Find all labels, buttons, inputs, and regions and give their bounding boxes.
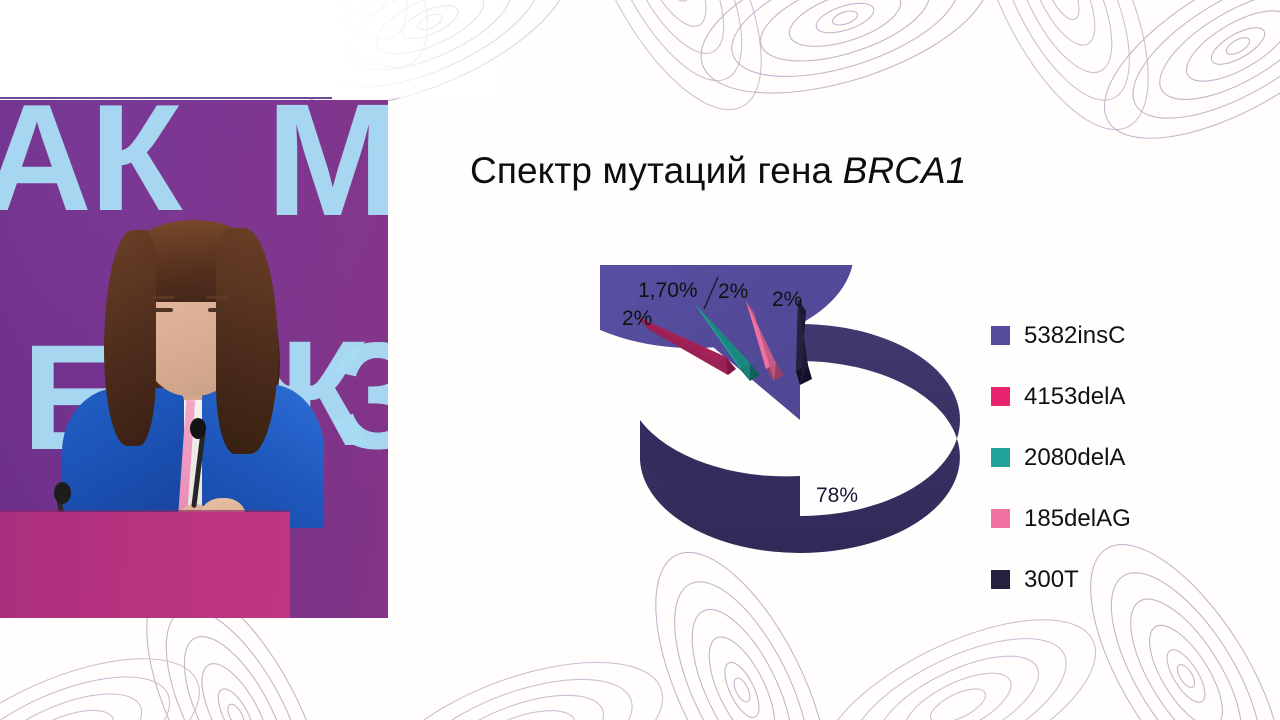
legend-item-5382insC[interactable]: 5382insC — [991, 305, 1131, 366]
legend-label: 4153delA — [1024, 383, 1125, 411]
pie-label-185delAG: 2% — [718, 280, 748, 304]
pie-label-4153delA: 2% — [622, 307, 652, 331]
speaker-video[interactable]: АК М Е Ж З — [0, 100, 388, 618]
legend-item-300T[interactable]: 300T — [991, 549, 1131, 610]
speaker-eye-left — [154, 308, 173, 312]
legend-swatch-icon — [991, 387, 1010, 406]
legend-item-185delAG[interactable]: 185delAG — [991, 488, 1131, 549]
backdrop-letter-ak: АК — [0, 100, 181, 221]
podium — [0, 512, 290, 618]
pie-chart-svg — [600, 265, 1000, 585]
backdrop-letter-m: М — [266, 100, 388, 225]
legend-swatch-icon — [991, 326, 1010, 345]
microphone-right-head — [190, 418, 206, 439]
legend-label: 2080delA — [1024, 444, 1125, 472]
conference-title-line-2: ЖЕЛЕЗЫ — [99, 52, 305, 79]
pie-chart: 2% 1,70% 2% 2% — [600, 265, 1000, 585]
header-divider — [0, 97, 332, 99]
page-title-prefix: Спектр мутаций гена — [470, 150, 843, 191]
legend-label: 185delAG — [1024, 505, 1131, 533]
russco-logo-icon: RUSSCO — [14, 12, 92, 90]
legend-swatch-icon — [991, 570, 1010, 589]
conference-title: РАК МОЛОЧНОЙ ЖЕЛЕЗЫ — [99, 25, 305, 78]
page-title: Спектр мутаций гена BRCA1 — [470, 150, 966, 192]
legend-label: 300T — [1024, 566, 1079, 594]
conference-title-block: X КОНФЕРЕНЦИЯ RUSSCO РАК МОЛОЧНОЙ ЖЕЛЕЗЫ — [99, 12, 305, 78]
legend-label: 5382insC — [1024, 322, 1125, 350]
speaker-eye-right — [208, 308, 227, 312]
legend-swatch-icon — [991, 448, 1010, 467]
conference-title-line-1: РАК МОЛОЧНОЙ — [99, 25, 305, 52]
speaker-brow-left — [152, 296, 175, 299]
chart-legend: 5382insC 4153delA 2080delA 185delAG 300T — [991, 305, 1131, 610]
conference-header: RUSSCO X КОНФЕРЕНЦИЯ RUSSCO РАК МОЛОЧНОЙ… — [0, 0, 330, 98]
legend-swatch-icon — [991, 509, 1010, 528]
legend-item-4153delA[interactable]: 4153delA — [991, 366, 1131, 427]
slide-stage: RUSSCO X КОНФЕРЕНЦИЯ RUSSCO РАК МОЛОЧНОЙ… — [0, 0, 1280, 720]
pie-label-300T: 2% — [772, 288, 802, 312]
speaker-brow-right — [206, 296, 229, 299]
conference-kicker: X КОНФЕРЕНЦИЯ RUSSCO — [100, 12, 305, 23]
backdrop-letter-z: З — [330, 334, 388, 459]
microphone-left-head — [54, 482, 71, 504]
legend-item-2080delA[interactable]: 2080delA — [991, 427, 1131, 488]
pie-label-5382insC: 78% — [816, 484, 858, 508]
page-title-gene: BRCA1 — [843, 150, 967, 191]
pie-label-2080delA: 1,70% — [638, 279, 698, 303]
